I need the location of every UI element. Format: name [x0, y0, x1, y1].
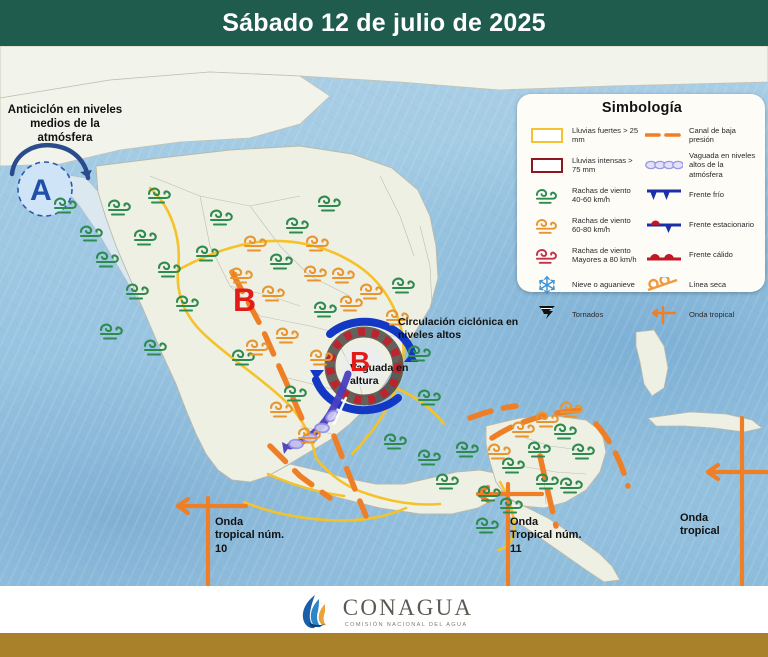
anticyclone-marker [12, 145, 92, 216]
stationary-front-icon [644, 213, 684, 237]
legend-item-label: Rachas de viento 40-60 km/h [572, 186, 640, 205]
legend-item-label: Línea seca [689, 280, 726, 289]
legend-item-upper-trough: Vaguada en niveles altos de la atmósfera [644, 150, 757, 180]
weather-map: Anticiclón en niveles medios de la atmós… [0, 46, 768, 586]
label-tropical-wave-11: Onda Tropical núm. 11 [510, 516, 582, 556]
dry-line-icon [644, 273, 684, 297]
tropical-wave-icon [644, 303, 684, 327]
wind-swirl-green-icon [527, 183, 567, 207]
label-anticyclone: Anticiclón en niveles medios de la atmós… [6, 103, 124, 145]
label-tropical-wave-10: Onda tropical núm. 10 [215, 516, 285, 556]
legend-item-label: Lluvias intensas > 75 mm [572, 156, 640, 175]
tropical-wave-12 [708, 418, 768, 586]
trough-gulf [470, 406, 516, 418]
legend-item-label: Canal de baja presión [689, 126, 757, 145]
legend-item-snow: Nieve o aguanieve [527, 270, 640, 300]
legend-item-label: Frente cálido [689, 250, 733, 259]
conagua-logo-text: CONAGUA [343, 595, 473, 621]
legend-title: Simbología [527, 100, 757, 116]
legend-item-label: Rachas de viento 60-80 km/h [572, 216, 640, 235]
legend-item-cold-front: Frente frío [644, 180, 757, 210]
tropical-waves [178, 418, 768, 586]
legend-item-intense-rain: Lluvias intensas > 75 mm [527, 150, 640, 180]
legend-item-stationary-front: Frente estacionario [644, 210, 757, 240]
page-footer: CONAGUA COMISIÓN NACIONAL DEL AGUA [0, 586, 768, 657]
warm-front-icon [644, 243, 684, 267]
legend-item-label: Rachas de viento Mayores a 80 km/h [572, 246, 640, 265]
legend-item-wind-over-80: Rachas de viento Mayores a 80 km/h [527, 240, 640, 270]
legend-item-label: Frente frío [689, 190, 724, 199]
rain-box-yellow-icon [527, 123, 567, 147]
legend-column-right: Canal de baja presión Vaguada en niveles… [644, 120, 757, 330]
legend-item-heavy-rain: Lluvias fuertes > 25 mm [527, 120, 640, 150]
rain-box-red-icon [527, 153, 567, 177]
trough-west [334, 436, 366, 516]
legend-item-label: Lluvias fuertes > 25 mm [572, 126, 640, 145]
conagua-logo-icon [295, 591, 335, 631]
legend-item-warm-front: Frente cálido [644, 240, 757, 270]
legend-item-label: Nieve o aguanieve [572, 280, 635, 289]
label-tropical-wave-12: Onda tropical [680, 512, 750, 539]
wind-swirl-orange-icon [527, 213, 567, 237]
conagua-logo: CONAGUA COMISIÓN NACIONAL DEL AGUA [0, 591, 768, 631]
legend-item-label: Onda tropical [689, 310, 734, 319]
legend-item-dry-line: Línea seca [644, 270, 757, 300]
legend-item-label: Tornados [572, 310, 603, 319]
legend-item-label: Vaguada en niveles altos de la atmósfera [689, 151, 757, 179]
high-pressure-letter: A [30, 174, 52, 208]
legend-item-low-pressure-trough: Canal de baja presión [644, 120, 757, 150]
conagua-logo-subtitle: COMISIÓN NACIONAL DEL AGUA [345, 622, 473, 628]
low-pressure-letter-cyclonic: B [350, 346, 370, 378]
legend-item-wind-40-60: Rachas de viento 40-60 km/h [527, 180, 640, 210]
legend-item-wind-60-80: Rachas de viento 60-80 km/h [527, 210, 640, 240]
wind-swirl-red-icon [527, 243, 567, 267]
tornado-icon [527, 303, 567, 327]
legend-item-tropical-wave: Onda tropical [644, 300, 757, 330]
cold-front-icon [644, 183, 684, 207]
legend-item-tornado: Tornados [527, 300, 640, 330]
page-header: Sábado 12 de julio de 2025 [0, 0, 768, 46]
legend-item-label: Frente estacionario [689, 220, 754, 229]
trough-caribbean [596, 424, 628, 486]
label-cyclonic-circulation: Circulación ciclónica en niveles altos [398, 316, 520, 342]
trough-south [270, 446, 330, 498]
chain-oval-purple-icon [644, 153, 684, 177]
dashed-line-orange-icon [644, 123, 684, 147]
page-title: Sábado 12 de julio de 2025 [222, 9, 545, 38]
footer-accent-bar [0, 633, 768, 657]
legend-panel: Simbología Lluvias fuertes > 25 mm Lluvi… [517, 94, 765, 292]
snowflake-icon [527, 273, 567, 297]
legend-column-left: Lluvias fuertes > 25 mm Lluvias intensas… [527, 120, 640, 330]
low-pressure-letter-north: B [233, 282, 256, 319]
